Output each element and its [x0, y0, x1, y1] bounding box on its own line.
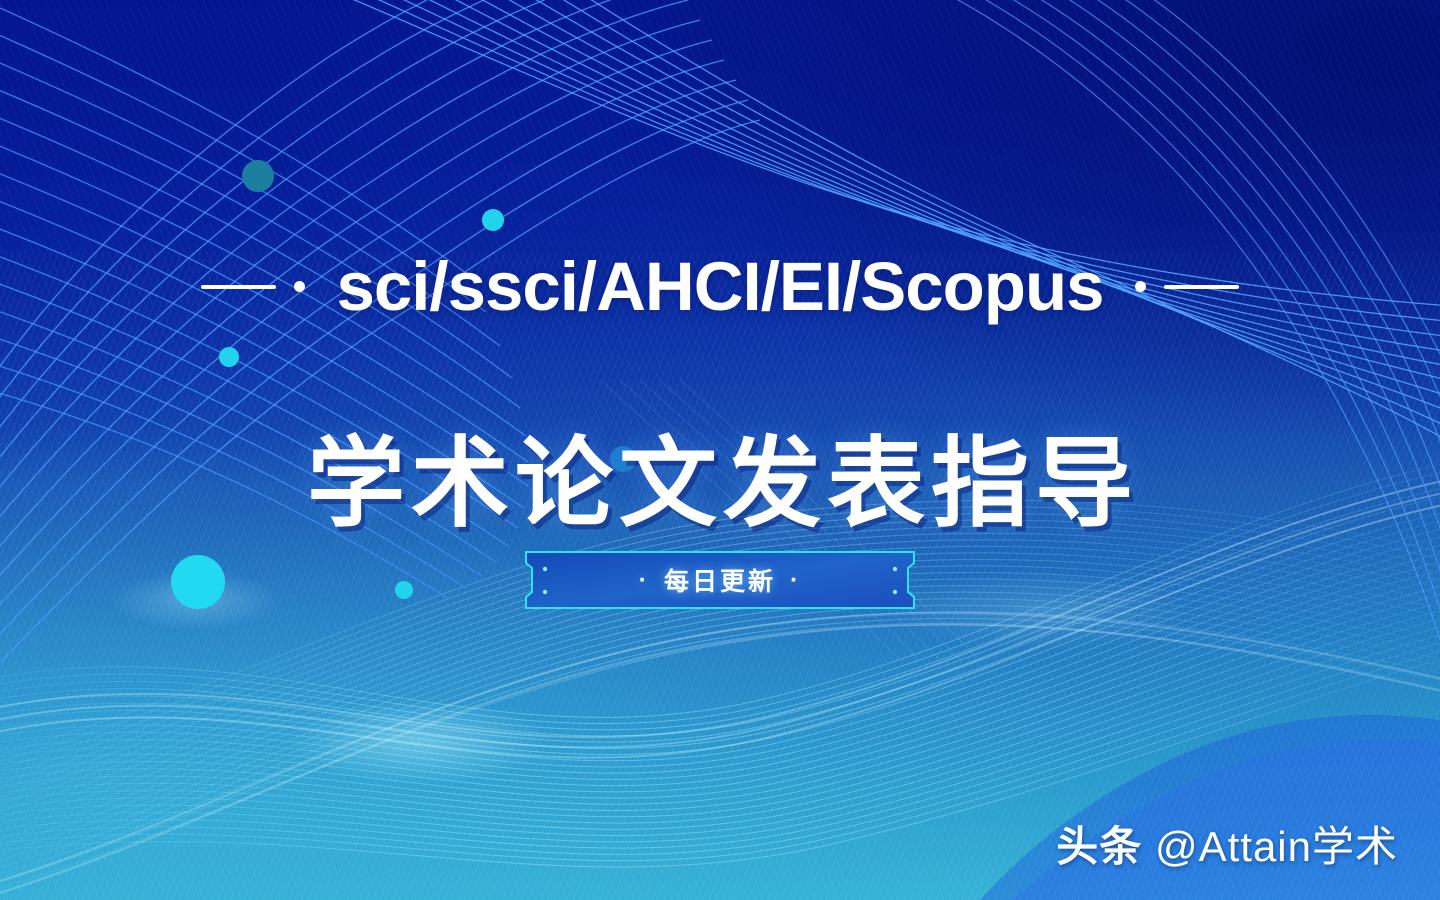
watermark-prefix: 头条: [1056, 823, 1142, 870]
badge-left-dot: ·: [639, 568, 650, 593]
headline-left-rule: [201, 285, 276, 289]
badge-right-dot: ·: [790, 568, 801, 593]
headline-row: sci/ssci/AHCI/EI/Scopus: [0, 252, 1440, 321]
headline-left-dot: [294, 281, 305, 292]
watermark-handle: @Attain学术: [1155, 823, 1398, 870]
badge-label: 每日更新: [664, 562, 776, 598]
page-title: 学术论文发表指导: [0, 432, 1440, 536]
headline-text: sci/ssci/AHCI/EI/Scopus: [323, 252, 1118, 321]
cyan-dot-small-3: [395, 581, 413, 599]
poster-canvas: sci/ssci/AHCI/EI/Scopus 学术论文发表指导: [0, 0, 1440, 900]
cyan-dot-small-1: [482, 209, 504, 231]
headline-right-rule: [1164, 285, 1239, 289]
poster-content: sci/ssci/AHCI/EI/Scopus 学术论文发表指导: [0, 0, 1440, 900]
cyan-dot-small-2: [219, 347, 239, 367]
daily-update-badge: · 每日更新 ·: [525, 551, 915, 609]
badge-text-row: · 每日更新 ·: [525, 551, 915, 609]
cyan-dot-big: [171, 555, 225, 609]
teal-dot-large: [242, 160, 274, 192]
watermark: 头条 @Attain学术: [1056, 813, 1398, 874]
headline-right-dot: [1135, 281, 1146, 292]
